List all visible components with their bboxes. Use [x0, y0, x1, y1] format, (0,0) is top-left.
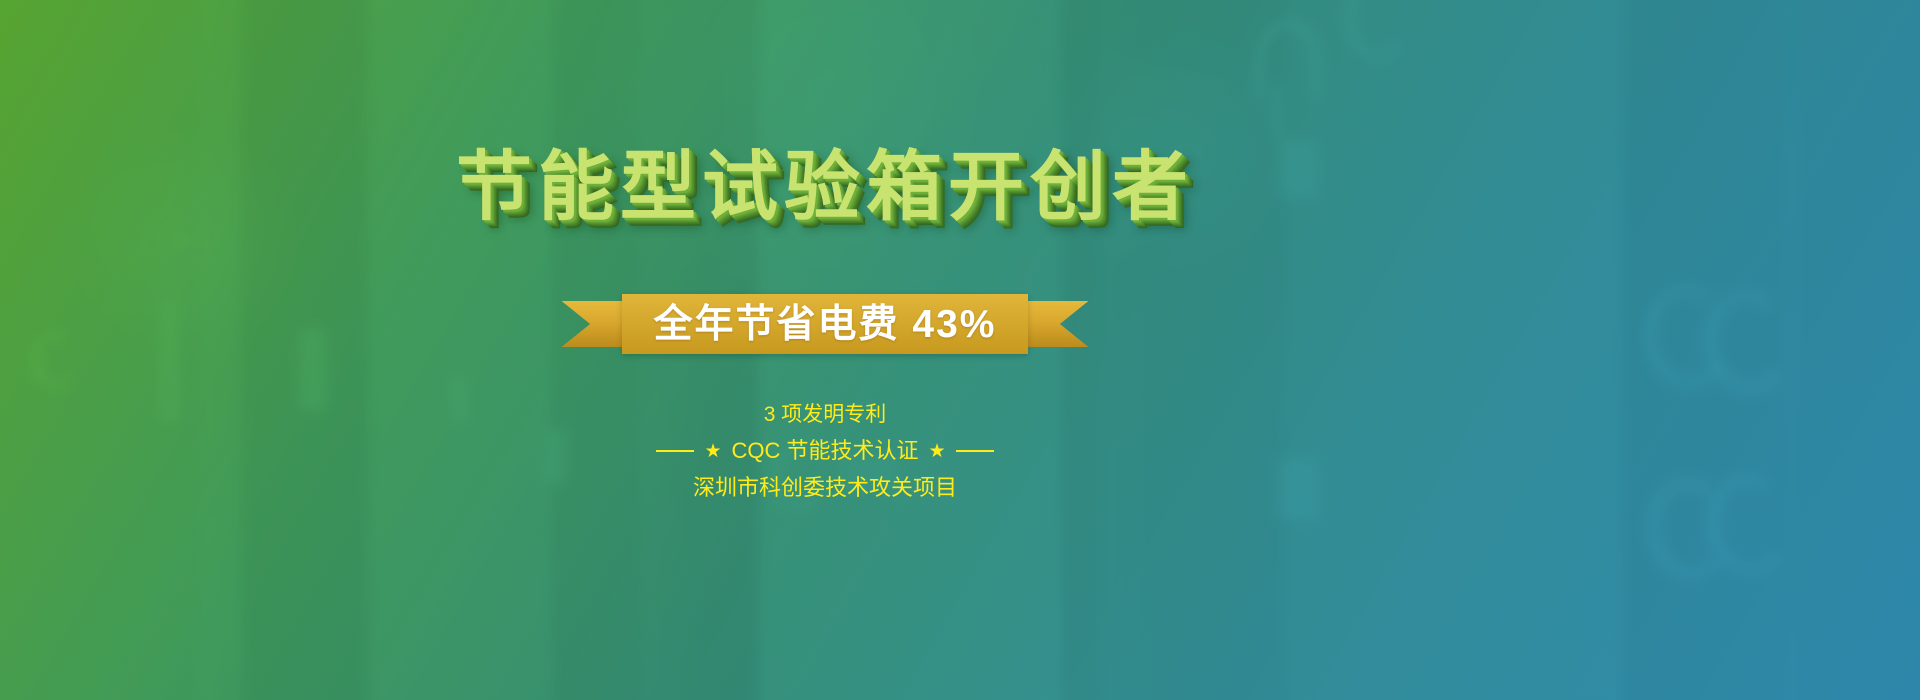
- rule-right-icon: [956, 450, 994, 452]
- ribbon-tail-right: [1020, 301, 1088, 347]
- banner-content: 节能型试验箱开创者 全年节省电费 43% 3 项发明专利 ★ CQC 节能技术认…: [0, 0, 1920, 700]
- banner-headline: 节能型试验箱开创者: [0, 150, 1650, 226]
- credential-project: 深圳市科创委技术攻关项目: [0, 477, 1650, 499]
- ribbon-label: 全年节省电费 43%: [654, 305, 997, 344]
- credentials-block: 3 项发明专利 ★ CQC 节能技术认证 ★ 深圳市科创委技术攻关项目: [0, 404, 1650, 499]
- certification-label: CQC 节能技术认证: [731, 440, 918, 462]
- ribbon-body: 全年节省电费 43%: [622, 294, 1029, 354]
- ribbon-tail-left: [562, 301, 630, 347]
- rule-left-icon: [656, 450, 694, 452]
- star-right-icon: ★: [929, 442, 946, 461]
- credential-certification: ★ CQC 节能技术认证 ★: [0, 440, 1650, 462]
- star-left-icon: ★: [704, 442, 721, 461]
- savings-ribbon: 全年节省电费 43%: [0, 294, 1650, 354]
- hero-banner: 节能型试验箱开创者 全年节省电费 43% 3 项发明专利 ★ CQC 节能技术认…: [0, 0, 1920, 700]
- credential-patents: 3 项发明专利: [0, 404, 1650, 425]
